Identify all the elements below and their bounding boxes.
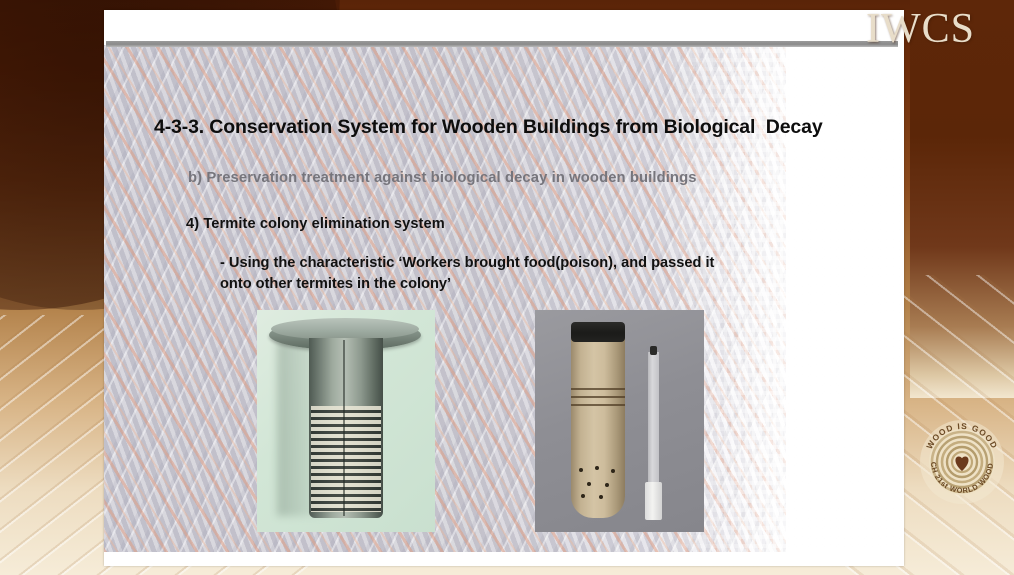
wooden-tube-cap: [571, 322, 625, 342]
world-wood-day-seal: WOOD IS GOOD MARCH 21st WORLD WOOD DAY: [916, 416, 1008, 508]
slide-bottom-margin: [104, 552, 904, 566]
bait-station-lid: [271, 318, 419, 340]
slide-detail-text: - Using the characteristic ʻWorkers brou…: [220, 253, 840, 294]
wooden-tube-ring: [571, 388, 625, 390]
bait-station-slots: [311, 406, 381, 512]
slide-title: 4-3-3. Conservation System for Wooden Bu…: [154, 116, 823, 139]
insert-tube-base: [645, 482, 662, 520]
wooden-bait-tube-photo: [535, 310, 704, 532]
presentation-slide-view: IWCS 4-3-3. Conservation System for Wood…: [0, 0, 1014, 575]
insert-tube-tip: [650, 346, 657, 355]
bait-station-seam: [343, 340, 345, 516]
slide-subtitle: b) Preservation treatment against biolog…: [188, 170, 697, 186]
slide-header-rule: [106, 41, 898, 47]
wooden-tube-holes: [575, 466, 621, 502]
slide-canvas: 4-3-3. Conservation System for Wooden Bu…: [104, 10, 904, 566]
wooden-tube-ring: [571, 396, 625, 398]
slide-list-item: 4) Termite colony elimination system: [186, 216, 445, 232]
seal-svg: WOOD IS GOOD MARCH 21st WORLD WOOD DAY: [916, 416, 1008, 508]
wooden-tube-ring: [571, 404, 625, 406]
insert-tube-body: [648, 352, 659, 490]
metal-bait-station-photo: [257, 310, 435, 532]
iwcs-wordmark: IWCS: [866, 8, 975, 50]
